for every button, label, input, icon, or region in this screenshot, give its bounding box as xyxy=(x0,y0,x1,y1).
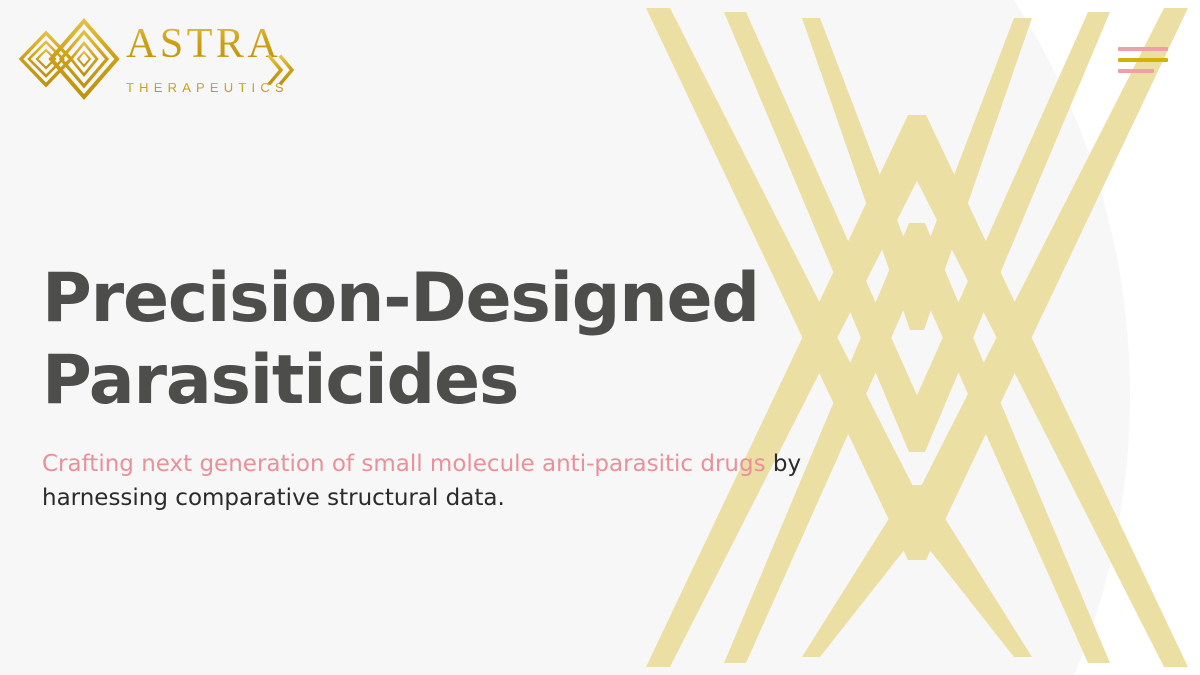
brand-name-text: ASTRA xyxy=(126,21,281,67)
page-title: Precision-Designed Parasiticides xyxy=(42,258,782,421)
menu-bar-bottom xyxy=(1118,69,1154,73)
hero-subtitle: Crafting next generation of small molecu… xyxy=(42,447,932,515)
nested-diamond-icon xyxy=(21,21,117,97)
menu-bar-top xyxy=(1118,47,1168,51)
brand-logo[interactable]: ASTRA THERAPEUTICS xyxy=(18,13,298,105)
hero-subtitle-accent: Crafting next generation of small molecu… xyxy=(42,451,766,477)
astra-logo-svg: ASTRA THERAPEUTICS xyxy=(18,13,298,105)
hero-copy: Precision-Designed Parasiticides Craftin… xyxy=(42,258,942,515)
brand-tagline-text: THERAPEUTICS xyxy=(126,80,289,95)
site-header: ASTRA THERAPEUTICS xyxy=(0,0,1200,118)
hamburger-menu-icon[interactable] xyxy=(1118,44,1170,74)
menu-bar-middle xyxy=(1118,58,1168,62)
hero-section: ASTRA THERAPEUTICS Precision-Designed Pa… xyxy=(0,0,1200,675)
